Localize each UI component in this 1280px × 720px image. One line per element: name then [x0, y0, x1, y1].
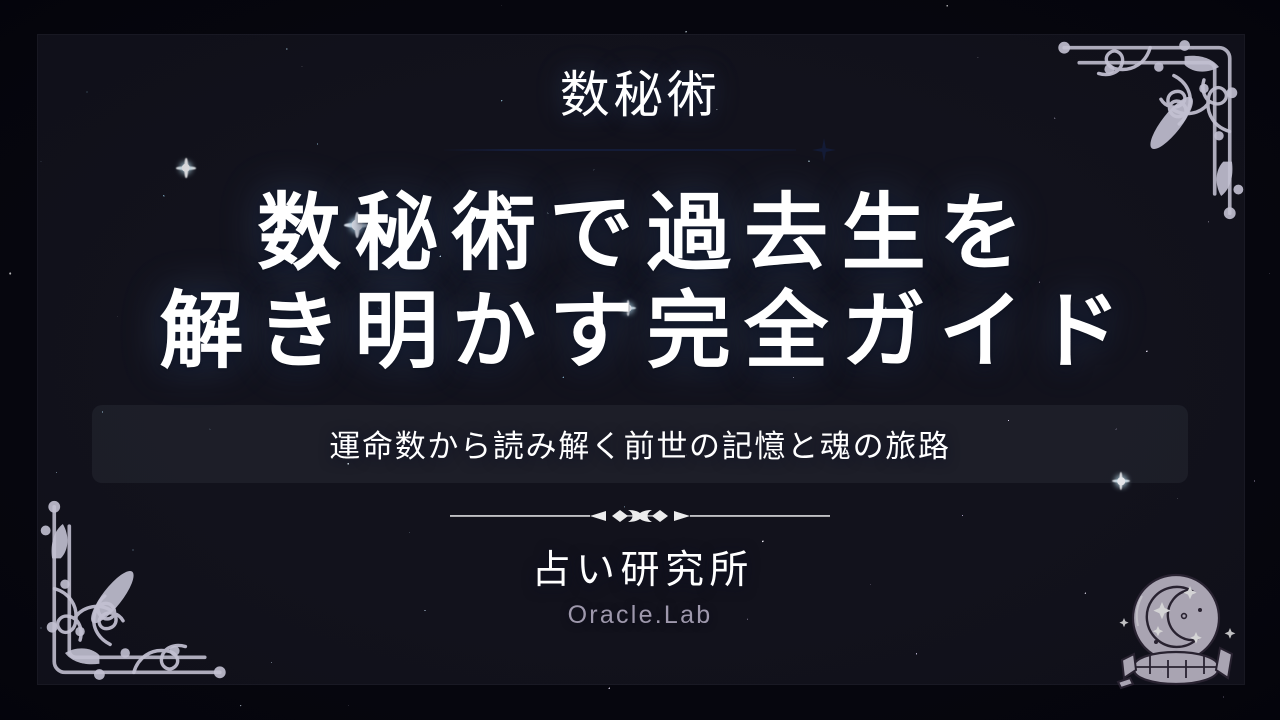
content-stack: 数秘術 数秘術で過去生を 解き明かす完全ガイド 運命数から読み解く前世の記憶と魂…	[0, 0, 1280, 720]
brand-name-en: Oracle.Lab	[568, 601, 713, 630]
brand-divider	[450, 507, 830, 525]
four-point-star-icon	[812, 138, 836, 162]
category-divider	[444, 142, 836, 158]
title-line-2: 解き明かす完全ガイド	[146, 284, 1134, 382]
subtitle-container: 運命数から読み解く前世の記憶と魂の旅路	[92, 405, 1188, 483]
category-label: 数秘術	[560, 70, 721, 120]
thumbnail-canvas: 数秘術 数秘術で過去生を 解き明かす完全ガイド 運命数から読み解く前世の記憶と魂…	[0, 0, 1280, 720]
divider-line	[444, 149, 796, 151]
title-line-1: 数秘術で過去生を	[257, 188, 1037, 281]
brand-name-ja: 占い研究所	[526, 539, 754, 595]
subtitle-text: 運命数から読み解く前世の記憶と魂の旅路	[329, 421, 950, 466]
page-title: 数秘術で過去生を 解き明かす完全ガイド	[146, 186, 1134, 383]
